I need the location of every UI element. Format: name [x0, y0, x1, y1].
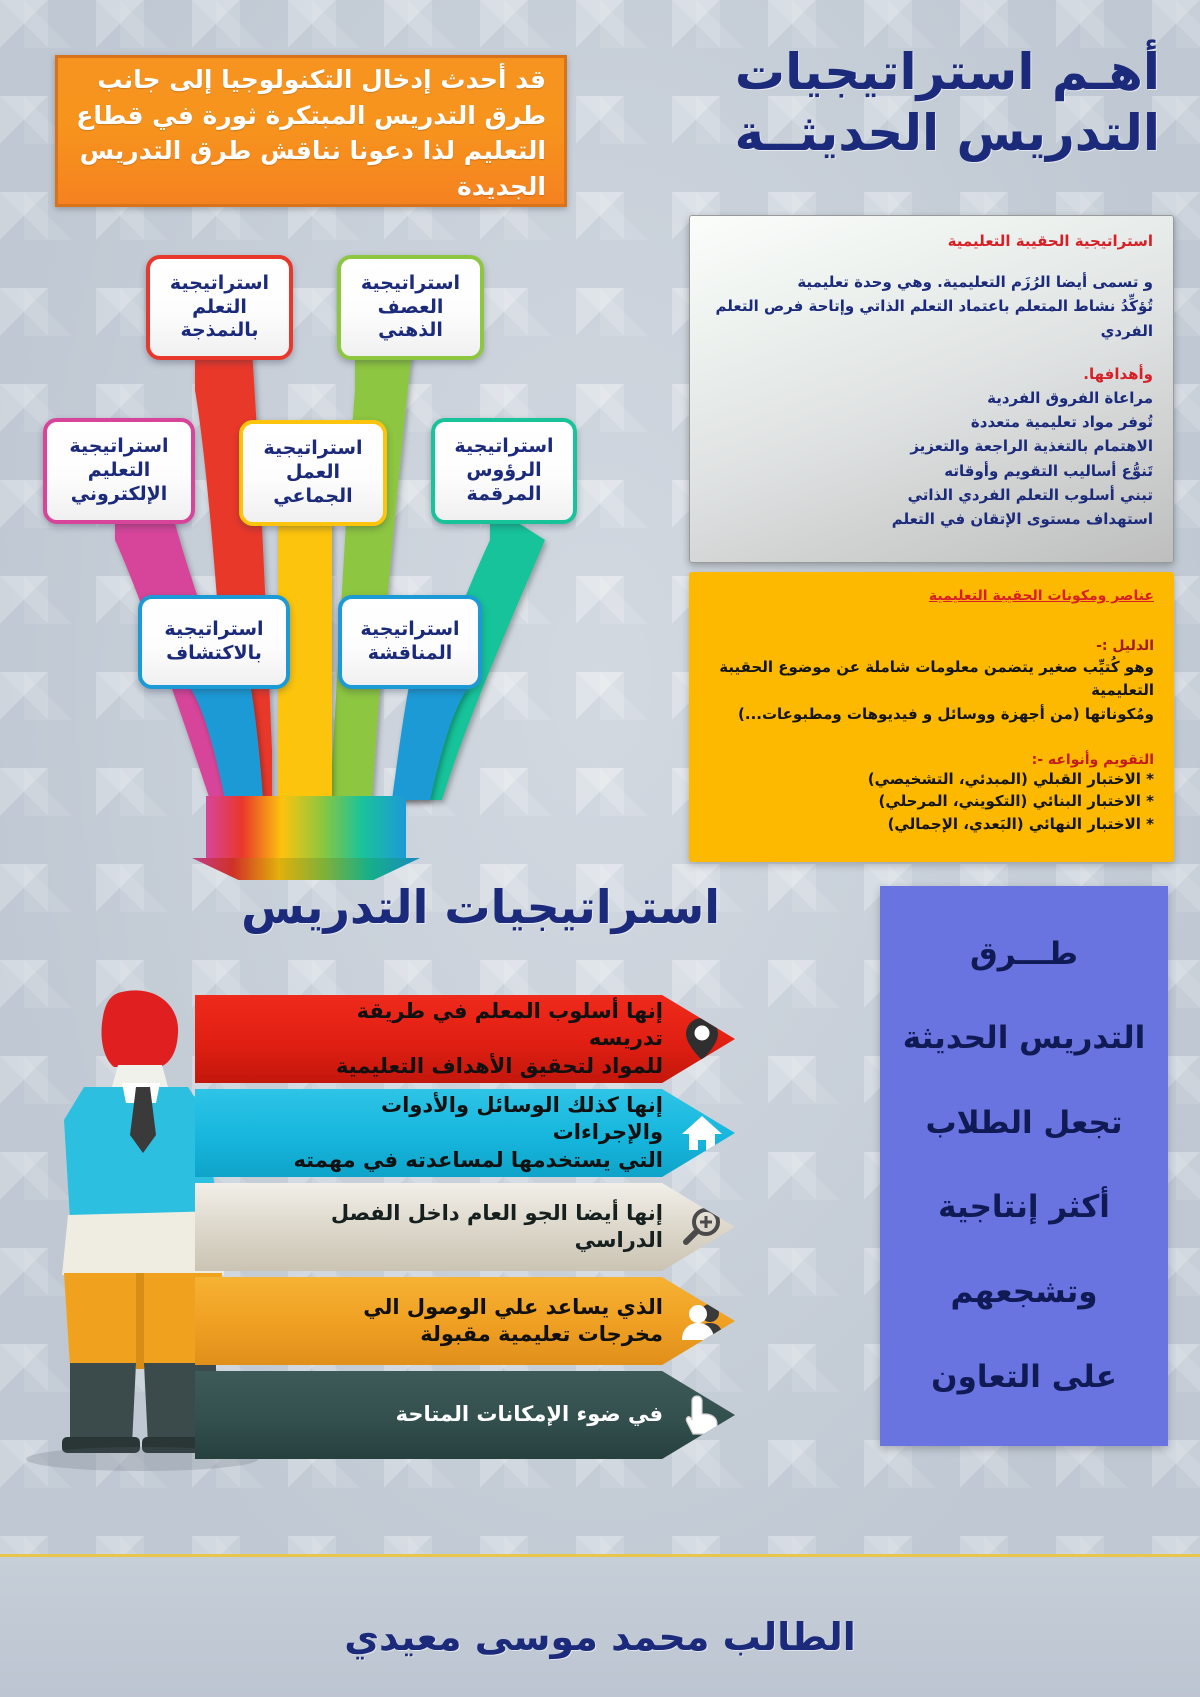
hand-pointer-icon — [679, 1392, 725, 1438]
gray-card-aim-item: تُوفر مواد تعليمية متعددة — [710, 410, 1153, 434]
summary-line: تجعل الطلاب — [894, 1106, 1154, 1142]
yellow-card-sub-assessment: التقويم وأنواعه -: — [709, 752, 1154, 768]
yellow-card-assessment-item: * الاختبار البنائي (التكويني، المرحلي) — [709, 790, 1154, 813]
banner-text-line-2: التي يستخدمها لمساعدته في مهمته — [293, 1148, 663, 1172]
strategy-node-label: استراتيجية التعليم الإلكتروني — [55, 435, 183, 507]
banner-text-line-1: إنها أسلوب المعلم في طريقة تدريسه — [357, 999, 663, 1050]
yellow-card-body-line-2: ومُكوناتها (من أجهزة ووسائل و فيديوهات و… — [709, 703, 1154, 726]
summary-line: على التعاون — [894, 1360, 1154, 1396]
strategy-node-label: استراتيجية بالاكتشاف — [150, 618, 278, 666]
banner-text-line-1: إنها كذلك الوسائل والأدوات والإجراءات — [381, 1093, 663, 1144]
magnifier-icon — [679, 1204, 725, 1250]
section-title: استراتيجيات التدريس — [241, 880, 720, 934]
banner-item-definition[interactable]: إنها أسلوب المعلم في طريقة تدريسه للمواد… — [195, 995, 735, 1083]
tree-trunk — [206, 796, 406, 864]
gray-card-aim-item: تَنوُّع أساليب التقويم وأوقاته — [710, 459, 1153, 483]
gray-card-body-line-2: تُؤكِّدُ نشاط المتعلم باعتماد التعلم الذ… — [710, 294, 1153, 343]
strategy-node-discovery[interactable]: استراتيجية بالاكتشاف — [138, 595, 290, 689]
page-title: أهـم استراتيجيات التدريس الحديثــة — [630, 42, 1160, 164]
tree-arrowhead-shade — [192, 858, 420, 880]
banner-item-tools[interactable]: إنها كذلك الوسائل والأدوات والإجراءات ال… — [195, 1089, 735, 1177]
banner-text: الذي يساعد علي الوصول الي مخرجات تعليمية… — [287, 1294, 721, 1349]
yellow-card-assessment-item: * الاختبار النهائي (البَعدي، الإجمالي) — [709, 813, 1154, 836]
summary-line: طـــرق — [894, 937, 1154, 973]
banner-text-line-1: الذي يساعد علي الوصول الي — [363, 1295, 663, 1319]
gray-card-heading: استراتيجية الحقيبة التعليمية — [710, 232, 1153, 250]
summary-line: التدريس الحديثة — [894, 1021, 1154, 1057]
strategy-node-label: استراتيجية التعلم بالنمذجة — [158, 272, 281, 344]
user-icon — [679, 1298, 725, 1344]
summary-line: أكثر إنتاجية — [894, 1190, 1154, 1226]
location-pin-icon — [679, 1016, 725, 1062]
yellow-card-sub-guide: الدليل :- — [709, 638, 1154, 654]
ribbon-green — [330, 350, 412, 800]
strategy-node-modeling[interactable]: استراتيجية التعلم بالنمذجة — [146, 255, 293, 360]
intro-quote-text: قد أحدث إدخال التكنولوجيا إلى جانب طرق ا… — [76, 62, 546, 204]
page-title-line-1: أهـم استراتيجيات — [630, 42, 1160, 103]
banner-item-available-resources[interactable]: في ضوء الإمكانات المتاحة — [195, 1371, 735, 1459]
gray-card-aim-item: الاهتمام بالتغذية الراجعة والتعزيز — [710, 434, 1153, 458]
strategy-tree-diagram: استراتيجية التعلم بالنمذجة استراتيجية ال… — [20, 240, 580, 880]
strategy-node-label: استراتيجية المناقشة — [350, 618, 470, 666]
strategy-node-label: استراتيجية العصف الذهني — [349, 272, 472, 344]
page-title-line-2: التدريس الحديثــة — [630, 103, 1160, 164]
package-components-card: عناصر ومكونات الحقيبة التعليمية الدليل :… — [689, 572, 1174, 862]
banner-text: في ضوء الإمكانات المتاحة — [287, 1401, 721, 1428]
banner-text: إنها كذلك الوسائل والأدوات والإجراءات ال… — [287, 1092, 721, 1174]
intro-quote-box: قد أحدث إدخال التكنولوجيا إلى جانب طرق ا… — [55, 55, 567, 207]
strategy-node-label: استراتيجية الرؤوس المرقمة — [443, 435, 565, 507]
teaching-strategy-banner-list: إنها أسلوب المعلم في طريقة تدريسه للمواد… — [195, 995, 735, 1465]
strategy-node-brainstorming[interactable]: استراتيجية العصف الذهني — [337, 255, 484, 360]
gray-card-body-line-1: و تسمى أيضا الرُزَم التعليمية. وهي وحدة … — [710, 270, 1153, 294]
banner-text-line-1: في ضوء الإمكانات المتاحة — [396, 1402, 663, 1426]
summary-statement-panel: طـــرق التدريس الحديثة تجعل الطلاب أكثر … — [880, 886, 1168, 1446]
tree-ribbons — [20, 240, 580, 880]
banner-text: إنها أيضا الجو العام داخل الفصل الدراسي — [287, 1200, 721, 1255]
strategy-node-groupwork[interactable]: استراتيجية العمل الجماعي — [239, 420, 387, 526]
banner-text-line-2: مخرجات تعليمية مقبولة — [420, 1322, 663, 1346]
gray-card-aim-item: استهداف مستوى الإتقان في التعلم — [710, 507, 1153, 531]
yellow-card-assessment-item: * الاختبار القبلي (المبدئي، التشخيصي) — [709, 768, 1154, 791]
banner-text-line-2: للمواد لتحقيق الأهداف التعليمية — [336, 1054, 663, 1078]
strategy-node-elearning[interactable]: استراتيجية التعليم الإلكتروني — [43, 418, 195, 524]
home-icon — [679, 1110, 725, 1156]
strategy-node-label: استراتيجية العمل الجماعي — [251, 437, 375, 509]
gray-card-aim-item: مراعاة الفروق الفردية — [710, 386, 1153, 410]
banner-item-classroom-climate[interactable]: إنها أيضا الجو العام داخل الفصل الدراسي — [195, 1183, 735, 1271]
yellow-card-heading: عناصر ومكونات الحقيبة التعليمية — [709, 588, 1154, 604]
educational-package-card: استراتيجية الحقيبة التعليمية و تسمى أيضا… — [689, 215, 1174, 563]
banner-text-line-1: إنها أيضا الجو العام داخل الفصل الدراسي — [331, 1201, 663, 1252]
gray-card-aims-heading: وأهدافها. — [710, 365, 1153, 383]
footer-credit: الطالب محمد موسى معيدي — [0, 1615, 1200, 1659]
summary-line: وتشجعهم — [894, 1275, 1154, 1311]
banner-item-outcomes[interactable]: الذي يساعد علي الوصول الي مخرجات تعليمية… — [195, 1277, 735, 1365]
yellow-card-body-line-1: وهو كُتيِّب صغير يتضمن معلومات شاملة عن … — [709, 656, 1154, 701]
gray-card-aim-item: تبني أسلوب التعلم الفردي الذاتي — [710, 483, 1153, 507]
banner-text: إنها أسلوب المعلم في طريقة تدريسه للمواد… — [287, 998, 721, 1080]
strategy-node-numbered-heads[interactable]: استراتيجية الرؤوس المرقمة — [431, 418, 577, 524]
strategy-node-discussion[interactable]: استراتيجية المناقشة — [338, 595, 482, 689]
